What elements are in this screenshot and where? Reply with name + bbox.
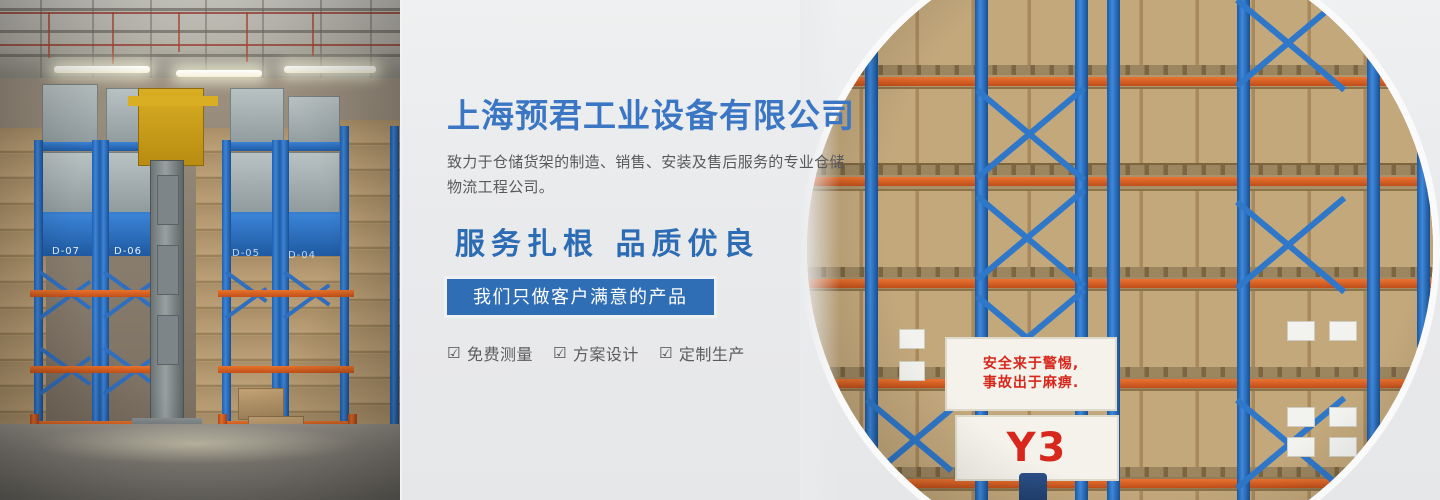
checkbox-checked-icon: ☑ xyxy=(553,346,567,361)
left-warehouse-photo: D-07 D-06 D-05 D-04 xyxy=(0,0,402,500)
right-circular-photo: 安全来于警惕, 事故出于麻痹. Y3 xyxy=(800,0,1440,500)
feature-list: ☑ 免费测量 ☑ 方案设计 ☑ 定制生产 xyxy=(447,341,877,365)
feature-label: 方案设计 xyxy=(573,341,639,365)
feature-item-custom-production[interactable]: ☑ 定制生产 xyxy=(659,341,745,365)
banner-content: 上海预君工业设备有限公司 致力于仓储货架的制造、销售、安装及售后服务的专业仓储物… xyxy=(447,96,877,365)
feature-label: 免费测量 xyxy=(467,341,533,365)
slogan: 服务扎根 品质优良 xyxy=(455,219,877,263)
right-photo-image: 安全来于警惕, 事故出于麻痹. Y3 xyxy=(807,0,1433,500)
feature-label: 定制生产 xyxy=(679,341,745,365)
checkbox-checked-icon: ☑ xyxy=(447,346,461,361)
company-title: 上海预君工业设备有限公司 xyxy=(447,96,877,136)
cta-button[interactable]: 我们只做客户满意的产品 xyxy=(447,279,714,315)
hero-banner: D-07 D-06 D-05 D-04 xyxy=(0,0,1440,500)
feature-item-plan-design[interactable]: ☑ 方案设计 xyxy=(553,341,639,365)
company-subtitle: 致力于仓储货架的制造、销售、安装及售后服务的专业仓储物流工程公司。 xyxy=(447,150,857,202)
feature-item-free-measure[interactable]: ☑ 免费测量 xyxy=(447,341,533,365)
checkbox-checked-icon: ☑ xyxy=(659,346,673,361)
